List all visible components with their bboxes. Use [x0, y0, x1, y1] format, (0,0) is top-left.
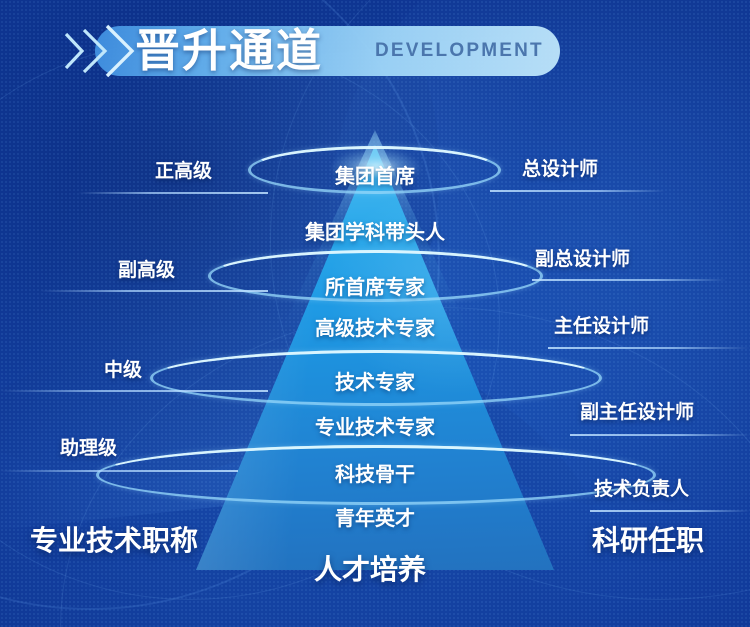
pyramid-tier-3: 所首席专家	[0, 271, 750, 300]
right-position-divider-4	[570, 434, 750, 436]
right-position-label-5: 技术负责人	[594, 474, 689, 501]
footer-label-right: 科研任职	[592, 519, 704, 559]
right-position-label-1: 总设计师	[522, 154, 598, 181]
pyramid-tier-1: 集团首席	[0, 160, 750, 189]
left-rank-label-4: 助理级	[60, 433, 117, 460]
right-position-label-4: 副主任设计师	[580, 397, 694, 424]
left-rank-divider-3	[0, 390, 268, 392]
left-rank-label-3: 中级	[104, 355, 142, 382]
page-title: 晋升通道	[135, 23, 323, 79]
right-position-divider-3	[548, 347, 750, 349]
pyramid-tier-2: 集团学科带头人	[0, 216, 750, 245]
right-position-divider-1	[490, 190, 665, 192]
footer-label-center: 人才培养	[314, 548, 426, 588]
left-rank-divider-1	[78, 192, 268, 194]
poster-canvas: 晋升通道 DEVELOPMENT 集团首席集团学科带头人所首席专家高级技术专家技…	[0, 0, 750, 627]
left-rank-divider-2	[40, 290, 268, 292]
left-rank-divider-4	[0, 470, 238, 472]
footer-label-left: 专业技术职称	[30, 519, 198, 559]
page-subtitle: DEVELOPMENT	[375, 40, 544, 62]
left-rank-label-1: 正高级	[155, 156, 212, 183]
right-position-divider-2	[532, 279, 727, 281]
header-banner: 晋升通道 DEVELOPMENT	[0, 0, 750, 100]
left-rank-label-2: 副高级	[118, 255, 175, 282]
right-position-divider-5	[590, 510, 750, 512]
right-position-label-3: 主任设计师	[554, 311, 649, 338]
right-position-label-2: 副总设计师	[535, 244, 630, 271]
